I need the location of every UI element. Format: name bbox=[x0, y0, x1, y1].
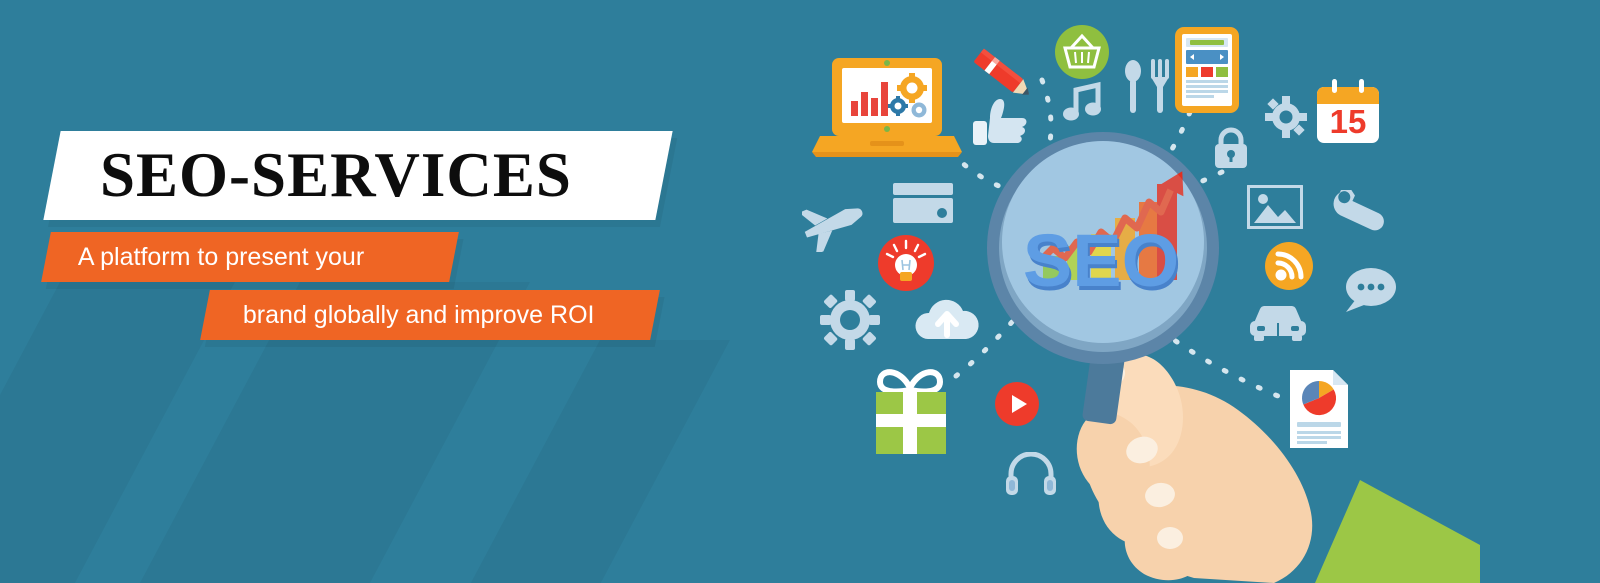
credit-card-icon bbox=[892, 182, 954, 224]
tablet-webpage-icon bbox=[1173, 25, 1241, 115]
gear-large-icon bbox=[820, 290, 880, 350]
subtitle-text-1: A platform to present your bbox=[78, 245, 364, 270]
chat-bubble-icon bbox=[1340, 265, 1398, 315]
cloud-upload-icon bbox=[912, 295, 982, 343]
gear-small-icon bbox=[1265, 96, 1307, 138]
subtitle-text-2: brand globally and improve ROI bbox=[243, 303, 595, 328]
image-icon bbox=[1247, 185, 1303, 229]
shopping-basket-icon bbox=[1052, 22, 1112, 82]
subtitle-ribbon-2: brand globally and improve ROI bbox=[200, 290, 660, 340]
calendar-icon: 15 bbox=[1313, 75, 1383, 151]
page-title-text: SEO-SERVICES bbox=[100, 144, 572, 207]
car-icon bbox=[1247, 300, 1309, 344]
headline-block: SEO-SERVICES A platform to present your … bbox=[0, 0, 760, 583]
rss-icon bbox=[1263, 240, 1315, 292]
subtitle-ribbon-1: A platform to present your bbox=[41, 232, 459, 282]
headphones-icon bbox=[1005, 452, 1057, 496]
calendar-day-text: 15 bbox=[1330, 103, 1367, 140]
cutlery-icon bbox=[1118, 55, 1174, 117]
music-note-icon bbox=[1058, 78, 1110, 130]
magnifying-glass: SEO SEO bbox=[985, 130, 1225, 430]
laptop-analytics-icon bbox=[812, 55, 962, 165]
seo-illustration: 15 bbox=[760, 0, 1600, 583]
gift-box-icon bbox=[868, 360, 954, 458]
lightbulb-icon bbox=[875, 232, 937, 294]
page-title: SEO-SERVICES bbox=[43, 131, 672, 220]
wrench-icon bbox=[1325, 190, 1387, 244]
seo-services-banner: SEO-SERVICES A platform to present your … bbox=[0, 0, 1600, 583]
airplane-icon bbox=[802, 196, 868, 252]
